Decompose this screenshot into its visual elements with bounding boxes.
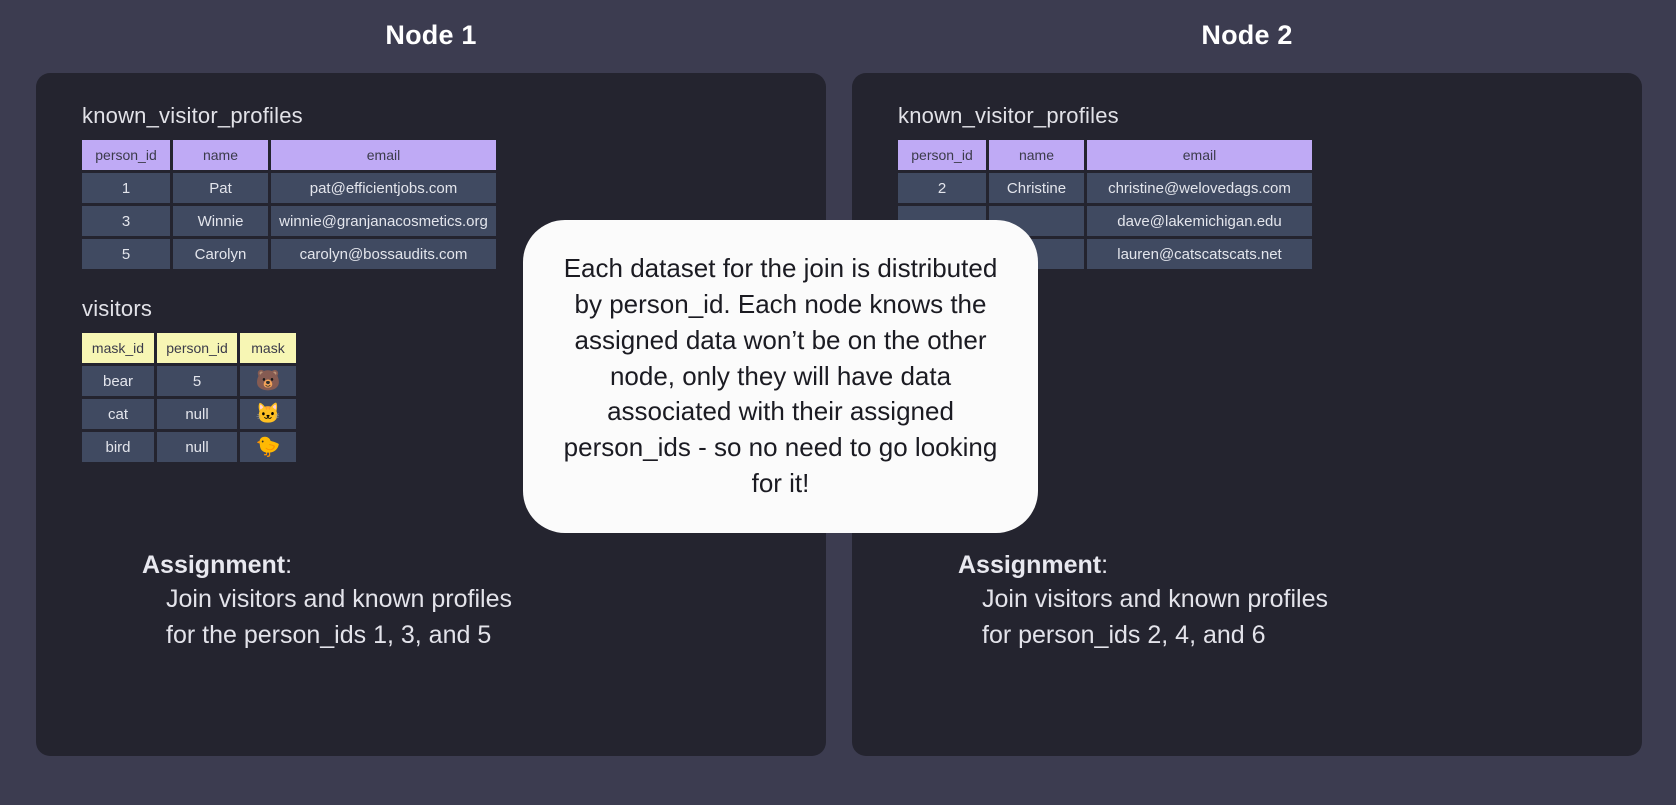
cell-person-id: null xyxy=(157,399,237,429)
cell-person-id: 1 xyxy=(82,173,170,203)
table-header: mask_id person_id mask xyxy=(82,333,296,363)
cell-person-id: 5 xyxy=(157,366,237,396)
cell-mask-id: bird xyxy=(82,432,154,462)
bear-icon: 🐻 xyxy=(240,366,296,396)
column-header-person-id: person_id xyxy=(157,333,237,363)
assignment-line-1: Join visitors and known profiles xyxy=(982,582,1328,618)
assignment-line-2: for person_ids 2, 4, and 6 xyxy=(982,618,1328,654)
cell-person-id: null xyxy=(157,432,237,462)
node-1-profiles-caption: known_visitor_profiles xyxy=(82,103,826,129)
cell-name: Christine xyxy=(989,173,1084,203)
node-2-title: Node 2 xyxy=(852,20,1642,51)
column-header-name: name xyxy=(989,140,1084,170)
node-1-visitors-table: mask_id person_id mask bear 5 🐻 cat null xyxy=(79,330,299,465)
table-body: 1 Pat pat@efficientjobs.com 3 Winnie win… xyxy=(82,173,496,269)
node-2-assignment: Assignment: Join visitors and known prof… xyxy=(958,551,1328,653)
assignment-line-2: for the person_ids 1, 3, and 5 xyxy=(166,618,512,654)
column-header-email: email xyxy=(1087,140,1312,170)
column-header-mask: mask xyxy=(240,333,296,363)
assignment-colon: : xyxy=(285,551,292,579)
node-2-profiles-caption: known_visitor_profiles xyxy=(898,103,1642,129)
assignment-heading: Assignment: xyxy=(958,551,1328,580)
callout-bubble: Each dataset for the join is distributed… xyxy=(523,220,1038,533)
callout-text: Each dataset for the join is distributed… xyxy=(557,251,1004,502)
table-row: bird null 🐤 xyxy=(82,432,296,462)
cell-mask-id: cat xyxy=(82,399,154,429)
table-body: bear 5 🐻 cat null 🐱 bird null 🐤 xyxy=(82,366,296,462)
node-1-assignment: Assignment: Join visitors and known prof… xyxy=(142,551,512,653)
cell-email: lauren@catscatscats.net xyxy=(1087,239,1312,269)
assignment-label: Assignment xyxy=(142,551,285,579)
column-header-person-id: person_id xyxy=(898,140,986,170)
node-1-title: Node 1 xyxy=(36,20,826,51)
assignment-colon: : xyxy=(1101,551,1108,579)
slide-canvas: Node 1 Node 2 known_visitor_profiles per… xyxy=(0,0,1676,805)
table-header-row: mask_id person_id mask xyxy=(82,333,296,363)
cell-email: winnie@granjanacosmetics.org xyxy=(271,206,496,236)
cell-email: christine@welovedags.com xyxy=(1087,173,1312,203)
table-row: 5 Carolyn carolyn@bossaudits.com xyxy=(82,239,496,269)
column-header-person-id: person_id xyxy=(82,140,170,170)
cell-person-id: 2 xyxy=(898,173,986,203)
cell-name: Winnie xyxy=(173,206,268,236)
table-header: person_id name email xyxy=(82,140,496,170)
node-1-profiles-table: person_id name email 1 Pat pat@efficient… xyxy=(79,137,499,272)
table-header-row: person_id name email xyxy=(898,140,1312,170)
cell-email: carolyn@bossaudits.com xyxy=(271,239,496,269)
column-header-name: name xyxy=(173,140,268,170)
table-row: cat null 🐱 xyxy=(82,399,296,429)
cell-name: Pat xyxy=(173,173,268,203)
assignment-heading: Assignment: xyxy=(142,551,512,580)
table-header: person_id name email xyxy=(898,140,1312,170)
cat-icon: 🐱 xyxy=(240,399,296,429)
table-row: 2 Christine christine@welovedags.com xyxy=(898,173,1312,203)
cell-mask-id: bear xyxy=(82,366,154,396)
cell-email: dave@lakemichigan.edu xyxy=(1087,206,1312,236)
table-header-row: person_id name email xyxy=(82,140,496,170)
cell-person-id: 3 xyxy=(82,206,170,236)
cell-person-id: 5 xyxy=(82,239,170,269)
table-row: 1 Pat pat@efficientjobs.com xyxy=(82,173,496,203)
column-header-mask-id: mask_id xyxy=(82,333,154,363)
table-row: 3 Winnie winnie@granjanacosmetics.org xyxy=(82,206,496,236)
cell-name: Carolyn xyxy=(173,239,268,269)
assignment-line-1: Join visitors and known profiles xyxy=(166,582,512,618)
assignment-label: Assignment xyxy=(958,551,1101,579)
table-row: bear 5 🐻 xyxy=(82,366,296,396)
bird-icon: 🐤 xyxy=(240,432,296,462)
column-header-email: email xyxy=(271,140,496,170)
cell-email: pat@efficientjobs.com xyxy=(271,173,496,203)
